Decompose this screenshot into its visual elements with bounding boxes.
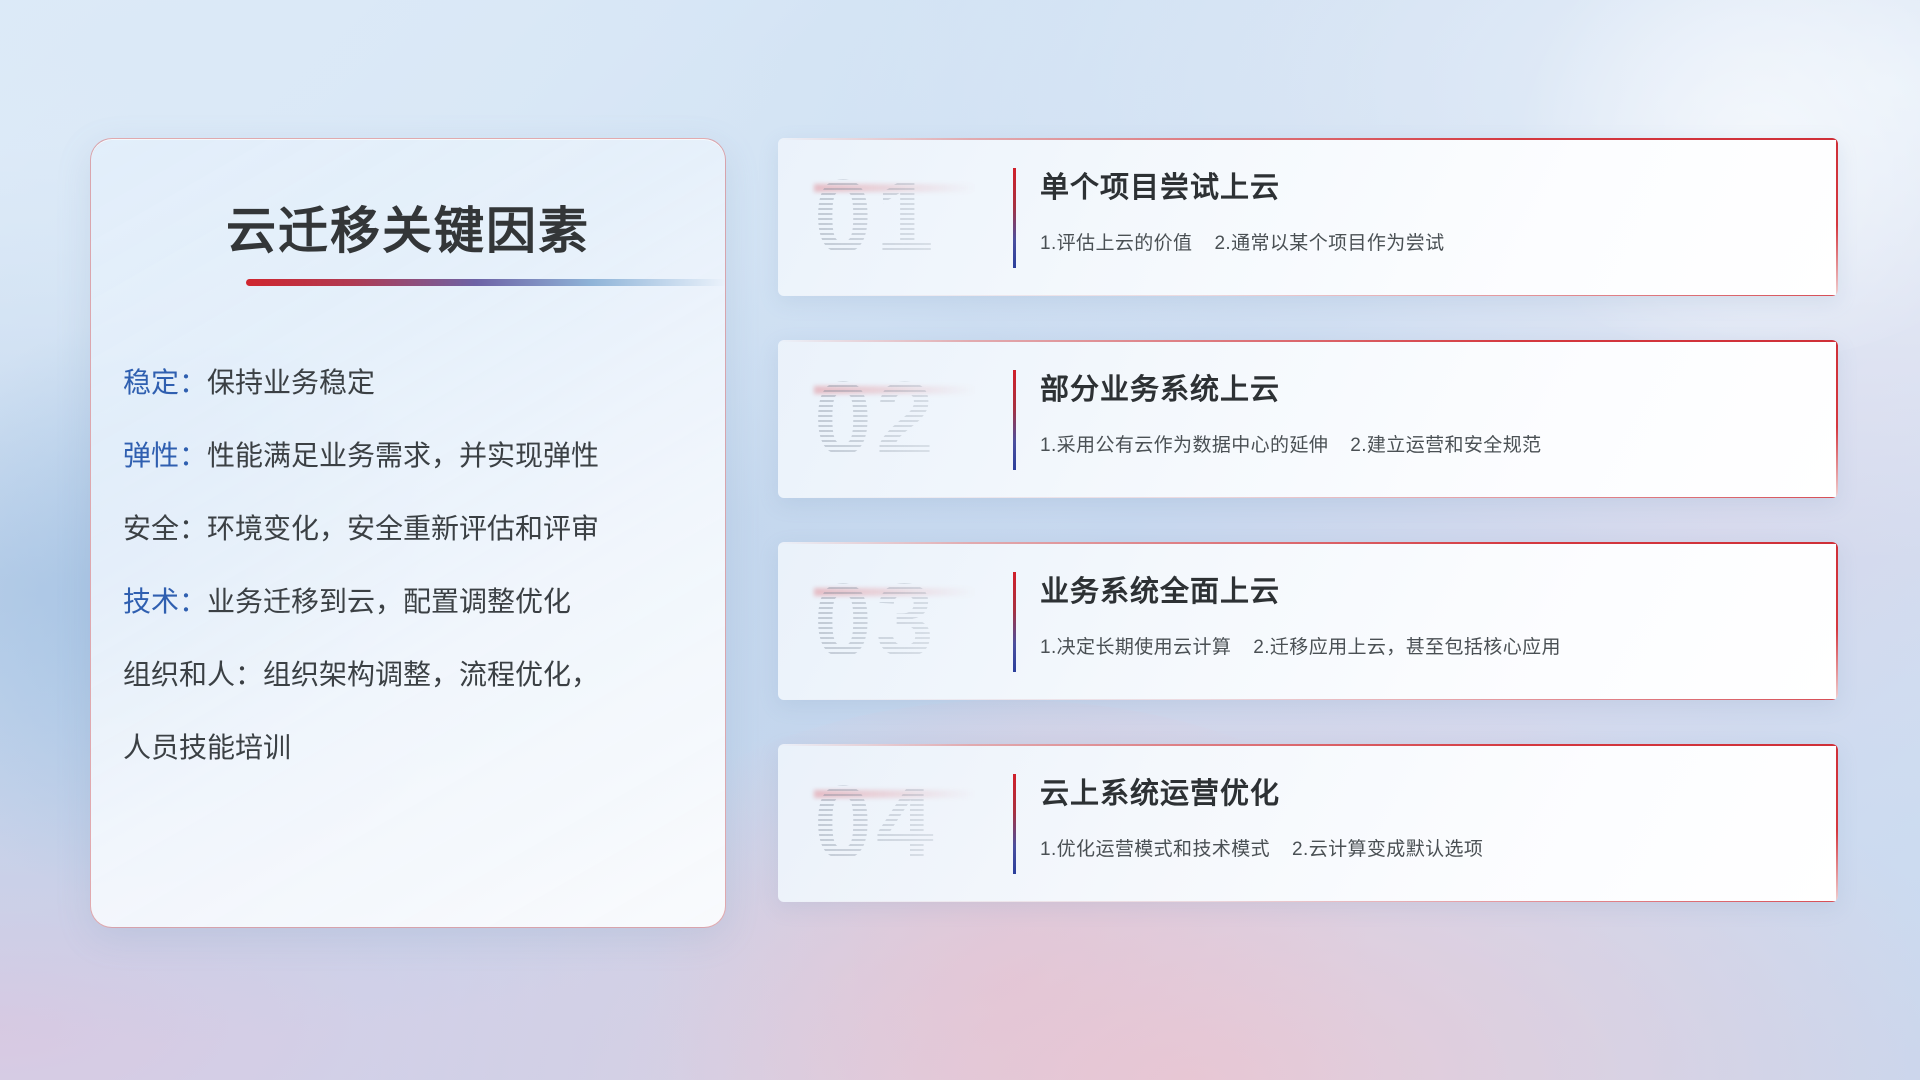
card-right-accent — [1836, 744, 1838, 902]
key-factor-label: 稳定： — [123, 367, 207, 398]
card-top-accent — [778, 138, 1838, 140]
stage-number: 02 — [814, 360, 1004, 478]
card-top-accent — [778, 340, 1838, 342]
key-factor-item: 人员技能培训 — [123, 734, 705, 762]
key-factor-text: 组织架构调整，流程优化， — [263, 659, 599, 690]
key-factor-text: 保持业务稳定 — [207, 367, 375, 398]
title-underline-bar — [246, 279, 726, 286]
stage-card[interactable]: 01单个项目尝试上云1.评估上云的价值2.通常以某个项目作为尝试 — [778, 138, 1838, 296]
card-subitem: 1.评估上云的价值 — [1040, 233, 1192, 254]
card-body: 业务系统全面上云1.决定长期使用云计算2.迁移应用上云，甚至包括核心应用 — [1040, 568, 1814, 659]
card-body: 单个项目尝试上云1.评估上云的价值2.通常以某个项目作为尝试 — [1040, 164, 1814, 255]
card-divider-bar — [1013, 370, 1016, 470]
card-divider-bar — [1013, 774, 1016, 874]
key-factor-item: 组织和人：组织架构调整，流程优化， — [123, 661, 705, 689]
key-factor-label: 安全： — [123, 513, 207, 544]
card-title: 单个项目尝试上云 — [1040, 164, 1814, 206]
stage-number: 03 — [814, 562, 1004, 680]
card-divider-bar — [1013, 168, 1016, 268]
card-body: 部分业务系统上云1.采用公有云作为数据中心的延伸2.建立运营和安全规范 — [1040, 366, 1814, 457]
migration-stage-cards: 01单个项目尝试上云1.评估上云的价值2.通常以某个项目作为尝试02部分业务系统… — [778, 138, 1838, 902]
key-factor-text: 环境变化，安全重新评估和评审 — [207, 513, 599, 544]
stage-card[interactable]: 02部分业务系统上云1.采用公有云作为数据中心的延伸2.建立运营和安全规范 — [778, 340, 1838, 498]
card-subitem: 2.迁移应用上云，甚至包括核心应用 — [1253, 637, 1561, 658]
card-subitems: 1.优化运营模式和技术模式2.云计算变成默认选项 — [1040, 834, 1814, 861]
key-factor-text: 人员技能培训 — [123, 732, 291, 763]
stage-number: 04 — [814, 764, 1004, 882]
card-subitems: 1.决定长期使用云计算2.迁移应用上云，甚至包括核心应用 — [1040, 632, 1814, 659]
card-right-accent — [1836, 138, 1838, 296]
card-subitem: 2.云计算变成默认选项 — [1292, 839, 1483, 860]
card-subitems: 1.评估上云的价值2.通常以某个项目作为尝试 — [1040, 228, 1814, 255]
card-subitem: 1.优化运营模式和技术模式 — [1040, 839, 1270, 860]
key-factor-item: 安全：环境变化，安全重新评估和评审 — [123, 515, 705, 543]
card-bottom-accent — [778, 901, 1838, 902]
card-subitem: 2.通常以某个项目作为尝试 — [1214, 233, 1444, 254]
stage-card[interactable]: 03业务系统全面上云1.决定长期使用云计算2.迁移应用上云，甚至包括核心应用 — [778, 542, 1838, 700]
key-factor-label: 组织和人： — [123, 659, 263, 690]
card-top-accent — [778, 542, 1838, 544]
key-factors-list: 稳定：保持业务稳定弹性：性能满足业务需求，并实现弹性安全：环境变化，安全重新评估… — [123, 369, 705, 762]
key-factor-item: 技术：业务迁移到云，配置调整优化 — [123, 588, 705, 616]
key-factor-text: 业务迁移到云，配置调整优化 — [207, 586, 571, 617]
card-bottom-accent — [778, 497, 1838, 498]
card-bottom-accent — [778, 295, 1838, 296]
key-factor-item: 稳定：保持业务稳定 — [123, 369, 705, 397]
card-title: 云上系统运营优化 — [1040, 770, 1814, 812]
page-title: 云迁移关键因素 — [91, 191, 725, 263]
key-factor-label: 技术： — [123, 586, 207, 617]
key-factors-panel: 云迁移关键因素 稳定：保持业务稳定弹性：性能满足业务需求，并实现弹性安全：环境变… — [90, 138, 726, 928]
stage-card[interactable]: 04云上系统运营优化1.优化运营模式和技术模式2.云计算变成默认选项 — [778, 744, 1838, 902]
card-body: 云上系统运营优化1.优化运营模式和技术模式2.云计算变成默认选项 — [1040, 770, 1814, 861]
key-factor-label: 弹性： — [123, 440, 207, 471]
card-title: 部分业务系统上云 — [1040, 366, 1814, 408]
card-subitem: 2.建立运营和安全规范 — [1350, 435, 1541, 456]
stage-number: 01 — [814, 158, 1004, 276]
key-factor-text: 性能满足业务需求，并实现弹性 — [207, 440, 599, 471]
card-title: 业务系统全面上云 — [1040, 568, 1814, 610]
card-subitem: 1.决定长期使用云计算 — [1040, 637, 1231, 658]
card-right-accent — [1836, 542, 1838, 700]
card-subitem: 1.采用公有云作为数据中心的延伸 — [1040, 435, 1328, 456]
card-divider-bar — [1013, 572, 1016, 672]
card-subitems: 1.采用公有云作为数据中心的延伸2.建立运营和安全规范 — [1040, 430, 1814, 457]
key-factor-item: 弹性：性能满足业务需求，并实现弹性 — [123, 442, 705, 470]
card-bottom-accent — [778, 699, 1838, 700]
card-right-accent — [1836, 340, 1838, 498]
card-top-accent — [778, 744, 1838, 746]
